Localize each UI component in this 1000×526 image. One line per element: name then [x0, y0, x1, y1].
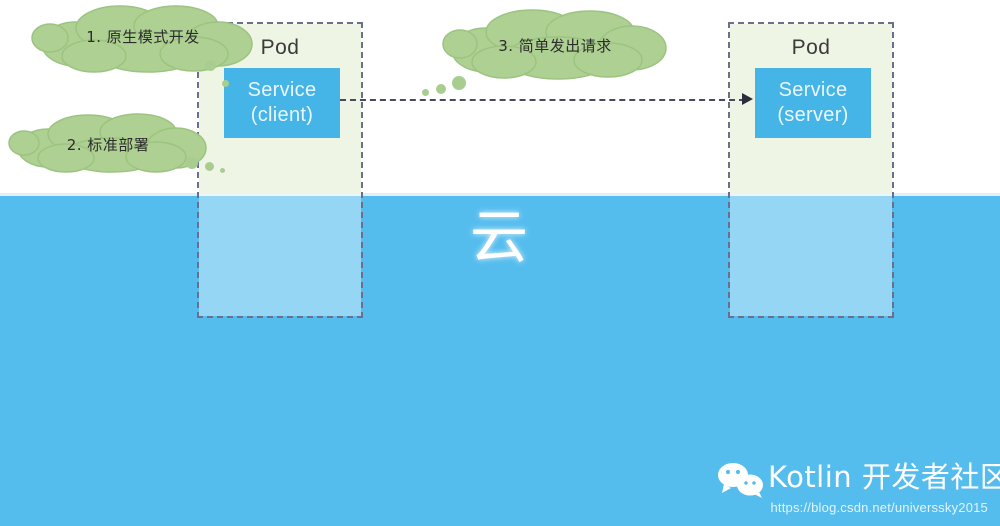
- cloud-bubble: [205, 162, 214, 171]
- callout-simple-request: 3. 简单发出请求: [440, 8, 670, 80]
- pod-server-fill-below-water: [730, 194, 892, 316]
- request-arrow-head-icon: [742, 93, 753, 105]
- pod-client-fill-below-water: [199, 194, 361, 316]
- callout-native-dev: 1. 原生模式开发: [28, 4, 258, 74]
- cloud-bubble: [222, 80, 229, 87]
- watermark: Kotlin 开发者社区 https://blog.csdn.net/unive…: [712, 458, 990, 520]
- cloud-bubble: [422, 89, 429, 96]
- cloud-bubble: [205, 60, 216, 71]
- cloud-bubble: [452, 76, 466, 90]
- service-server-box[interactable]: Service (server): [755, 68, 871, 138]
- callout-standard-deploy: 2. 标准部署: [8, 112, 208, 174]
- service-client-box[interactable]: Service (client): [224, 68, 340, 138]
- service-client-title: Service: [248, 78, 317, 103]
- watermark-brand: Kotlin 开发者社区: [768, 460, 1000, 494]
- service-client-role: (client): [251, 103, 313, 128]
- cloud-bubble: [436, 84, 446, 94]
- cloud-bubble: [220, 168, 225, 173]
- pod-server-box: Pod: [728, 22, 894, 318]
- wechat-icon: [716, 462, 766, 498]
- callout-simple-request-label: 3. 简单发出请求: [440, 35, 670, 56]
- watermark-url: https://blog.csdn.net/universsky2015: [712, 500, 988, 515]
- service-server-role: (server): [777, 103, 848, 128]
- callout-native-dev-label: 1. 原生模式开发: [28, 26, 258, 47]
- service-server-title: Service: [779, 78, 848, 103]
- callout-standard-deploy-label: 2. 标准部署: [8, 134, 208, 155]
- diagram-canvas: 云 Pod Service (client) Pod Service (serv…: [0, 0, 1000, 526]
- request-arrow-line: [340, 99, 745, 101]
- cloud-bubble: [186, 157, 198, 169]
- pod-server-label: Pod: [730, 36, 892, 60]
